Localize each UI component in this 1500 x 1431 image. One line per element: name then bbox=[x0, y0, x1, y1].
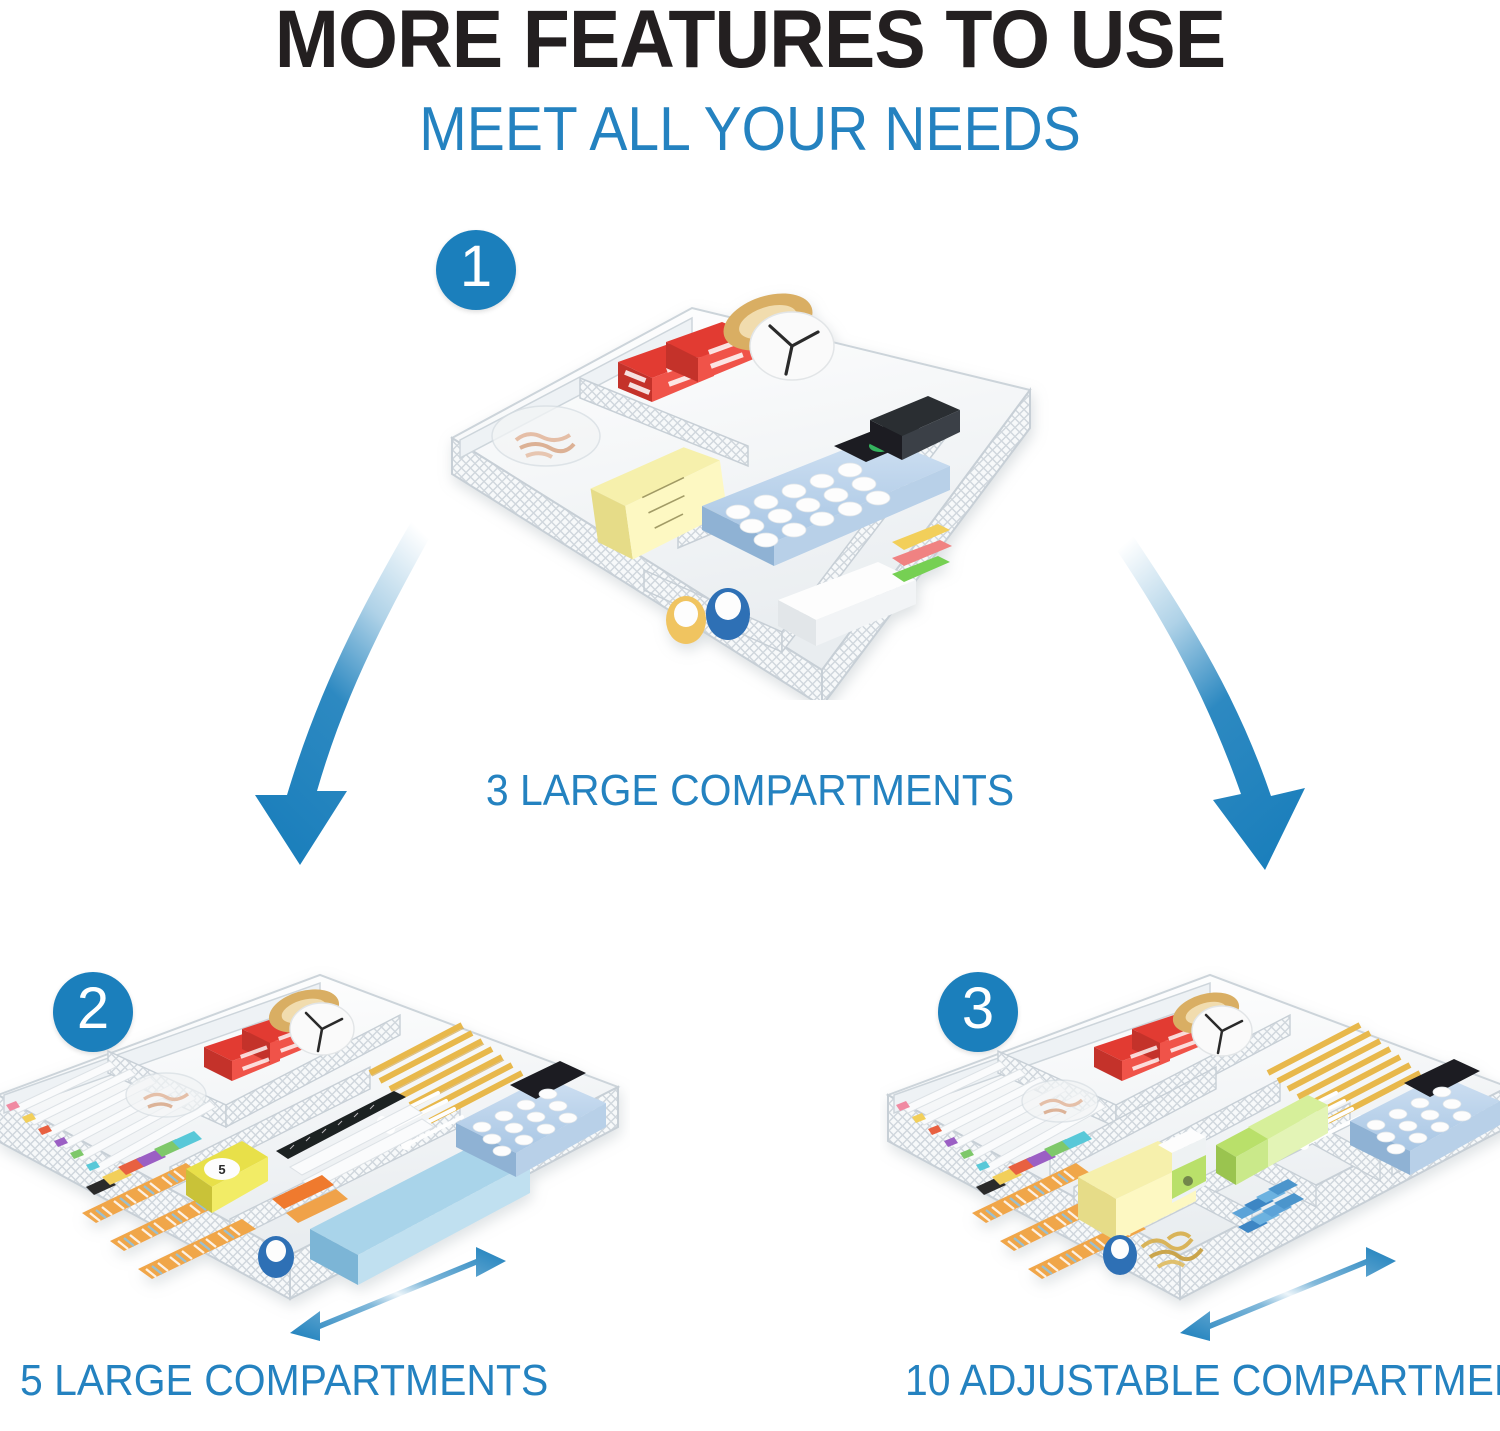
caption-step-1: 3 LARGE COMPARTMENTS bbox=[53, 766, 1448, 816]
page-title: MORE FEATURES TO USE bbox=[45, 0, 1455, 84]
product-image-step-2: 5 bbox=[0, 955, 630, 1350]
infographic-canvas: MORE FEATURES TO USE MEET ALL YOUR NEEDS bbox=[0, 0, 1500, 1431]
page-subtitle: MEET ALL YOUR NEEDS bbox=[60, 96, 1440, 164]
caption-step-2: 5 LARGE COMPARTMENTS bbox=[20, 1356, 548, 1406]
caption-step-3: 10 ADJUSTABLE COMPARTMENTS bbox=[905, 1356, 1500, 1406]
svg-text:5: 5 bbox=[218, 1162, 225, 1177]
product-image-step-3 bbox=[880, 955, 1500, 1350]
product-image-step-1 bbox=[430, 270, 1050, 700]
